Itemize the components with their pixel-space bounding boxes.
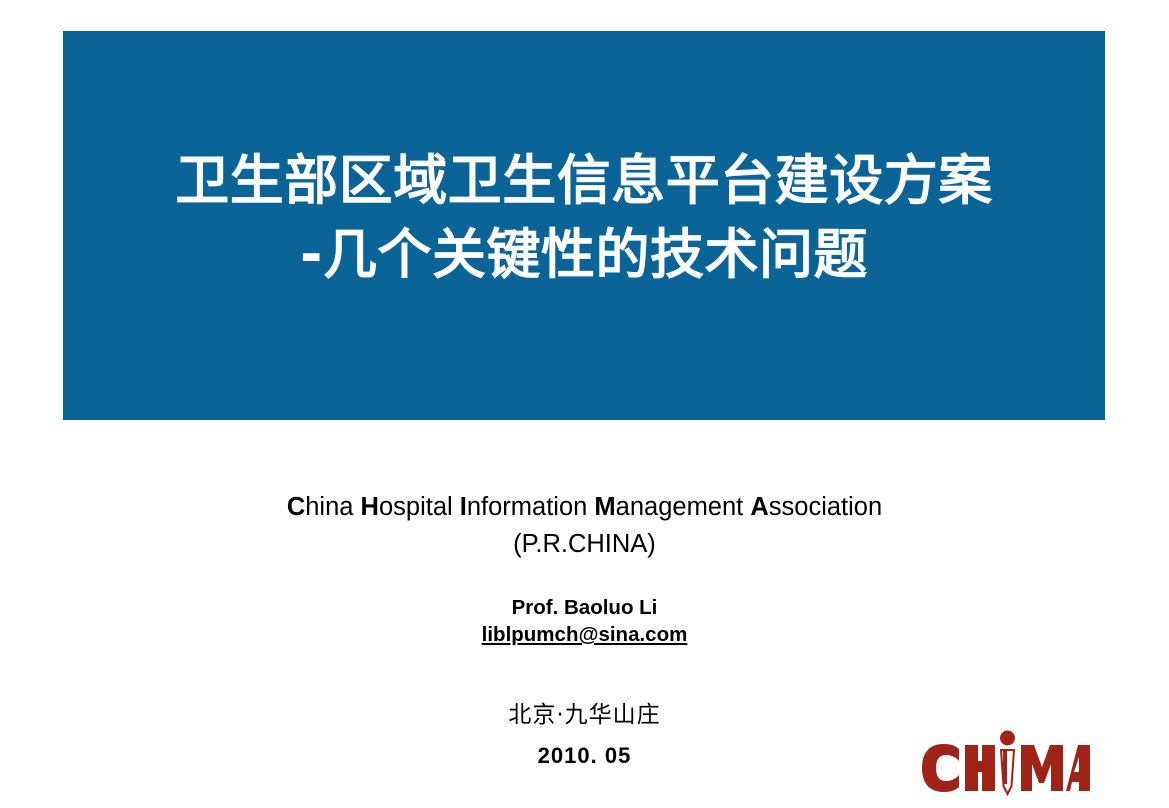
org-word-management: anagement bbox=[616, 493, 751, 521]
org-initial-i: I bbox=[460, 493, 467, 521]
org-initial-c: C bbox=[287, 493, 305, 521]
venue-location: 北京·九华山庄 bbox=[0, 698, 1169, 732]
org-word-hospital: ospital bbox=[379, 493, 460, 521]
author-block: Prof. Baoluo Li liblpumch@sina.com bbox=[0, 594, 1169, 648]
organization-block: China Hospital Information Management As… bbox=[0, 490, 1169, 564]
title-line-primary: 卫生部区域卫生信息平台建设方案 bbox=[63, 144, 1105, 218]
org-word-information: nformation bbox=[467, 493, 595, 521]
title-banner: 卫生部区域卫生信息平台建设方案 -几个关键性的技术问题 bbox=[63, 31, 1105, 420]
presentation-slide: 卫生部区域卫生信息平台建设方案 -几个关键性的技术问题 China Hospit… bbox=[0, 0, 1169, 808]
org-initial-m: M bbox=[594, 493, 615, 521]
title-line-secondary: -几个关键性的技术问题 bbox=[63, 218, 1105, 292]
organization-country: (P.R.CHINA) bbox=[0, 524, 1169, 564]
chima-logo bbox=[920, 730, 1090, 798]
chima-logo-icon bbox=[920, 730, 1090, 798]
author-name: Prof. Baoluo Li bbox=[0, 594, 1169, 621]
org-initial-a: A bbox=[750, 493, 768, 521]
author-email-link[interactable]: liblpumch@sina.com bbox=[0, 621, 1169, 648]
org-word-association: ssociation bbox=[769, 493, 882, 521]
org-word-china: hina bbox=[305, 493, 360, 521]
org-initial-h: H bbox=[361, 493, 379, 521]
title-stack: 卫生部区域卫生信息平台建设方案 -几个关键性的技术问题 bbox=[63, 144, 1105, 292]
organization-name: China Hospital Information Management As… bbox=[0, 490, 1169, 524]
